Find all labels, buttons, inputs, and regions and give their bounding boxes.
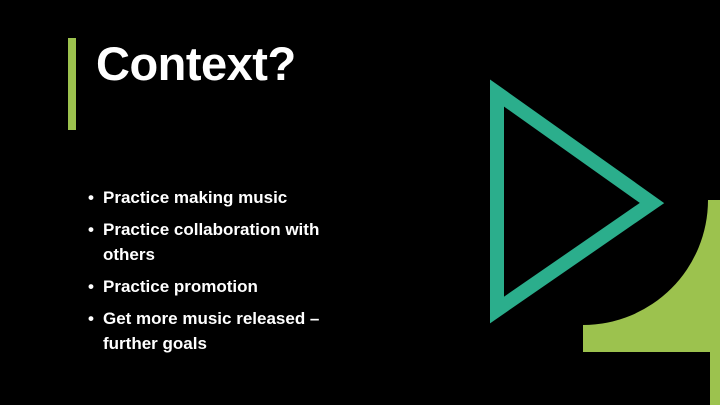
list-item: • Practice promotion (88, 274, 363, 299)
list-item: • Practice collaboration with others (88, 217, 363, 267)
list-item-label: Practice promotion (103, 274, 363, 299)
bullet-marker-icon: • (88, 274, 94, 299)
bullet-marker-icon: • (88, 185, 94, 210)
list-item: • Practice making music (88, 185, 363, 210)
page-title: Context? (76, 40, 296, 87)
green-concave-block-icon (583, 200, 710, 352)
list-item: • Get more music released – further goal… (88, 306, 363, 356)
list-item-label: Practice making music (103, 185, 363, 210)
title-accent-bar (68, 38, 76, 130)
list-item-label: Get more music released – further goals (103, 306, 363, 356)
bullet-marker-icon: • (88, 306, 94, 331)
bullet-marker-icon: • (88, 217, 94, 242)
play-triangle-outline-icon (497, 93, 652, 310)
green-edge-strip-icon (710, 200, 720, 405)
slide-canvas: Context? • Practice making music • Pract… (0, 0, 720, 405)
list-item-label: Practice collaboration with others (103, 217, 363, 267)
title-block: Context? (68, 38, 296, 130)
bullet-list: • Practice making music • Practice colla… (88, 185, 363, 363)
